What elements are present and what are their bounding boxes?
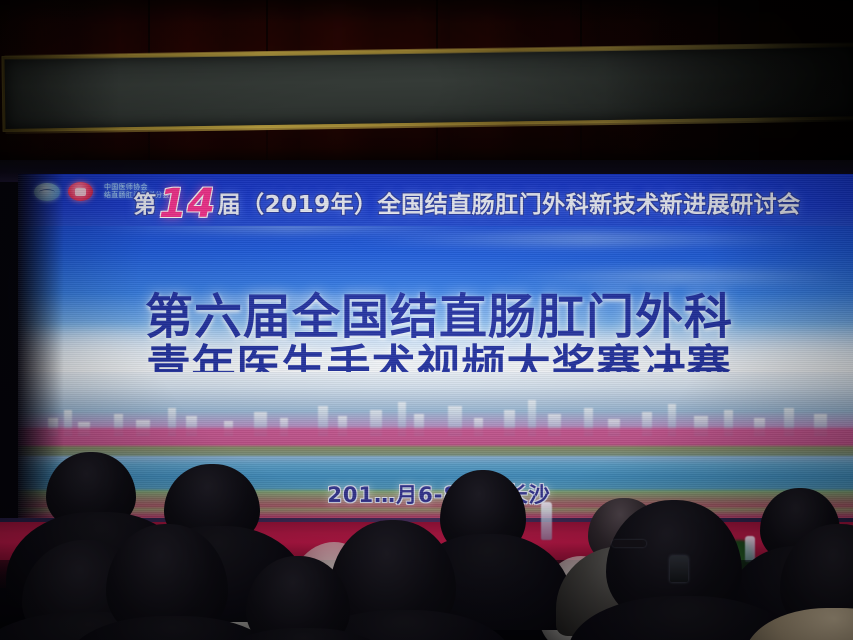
led-presentation-screen: 中国医师协会 结直肠肛门外科分会 第14届（2019年）全国结直肠肛门外科新技术…	[18, 174, 853, 522]
water-bottle	[541, 502, 552, 540]
wall-vignette	[0, 0, 853, 168]
conference-photo: 中国医师协会 结直肠肛门外科分会 第14届（2019年）全国结直肠肛门外科新技术…	[0, 0, 853, 640]
eyeglasses	[612, 540, 646, 547]
smartphone	[670, 556, 688, 582]
screen-glow-overlay	[18, 174, 853, 522]
